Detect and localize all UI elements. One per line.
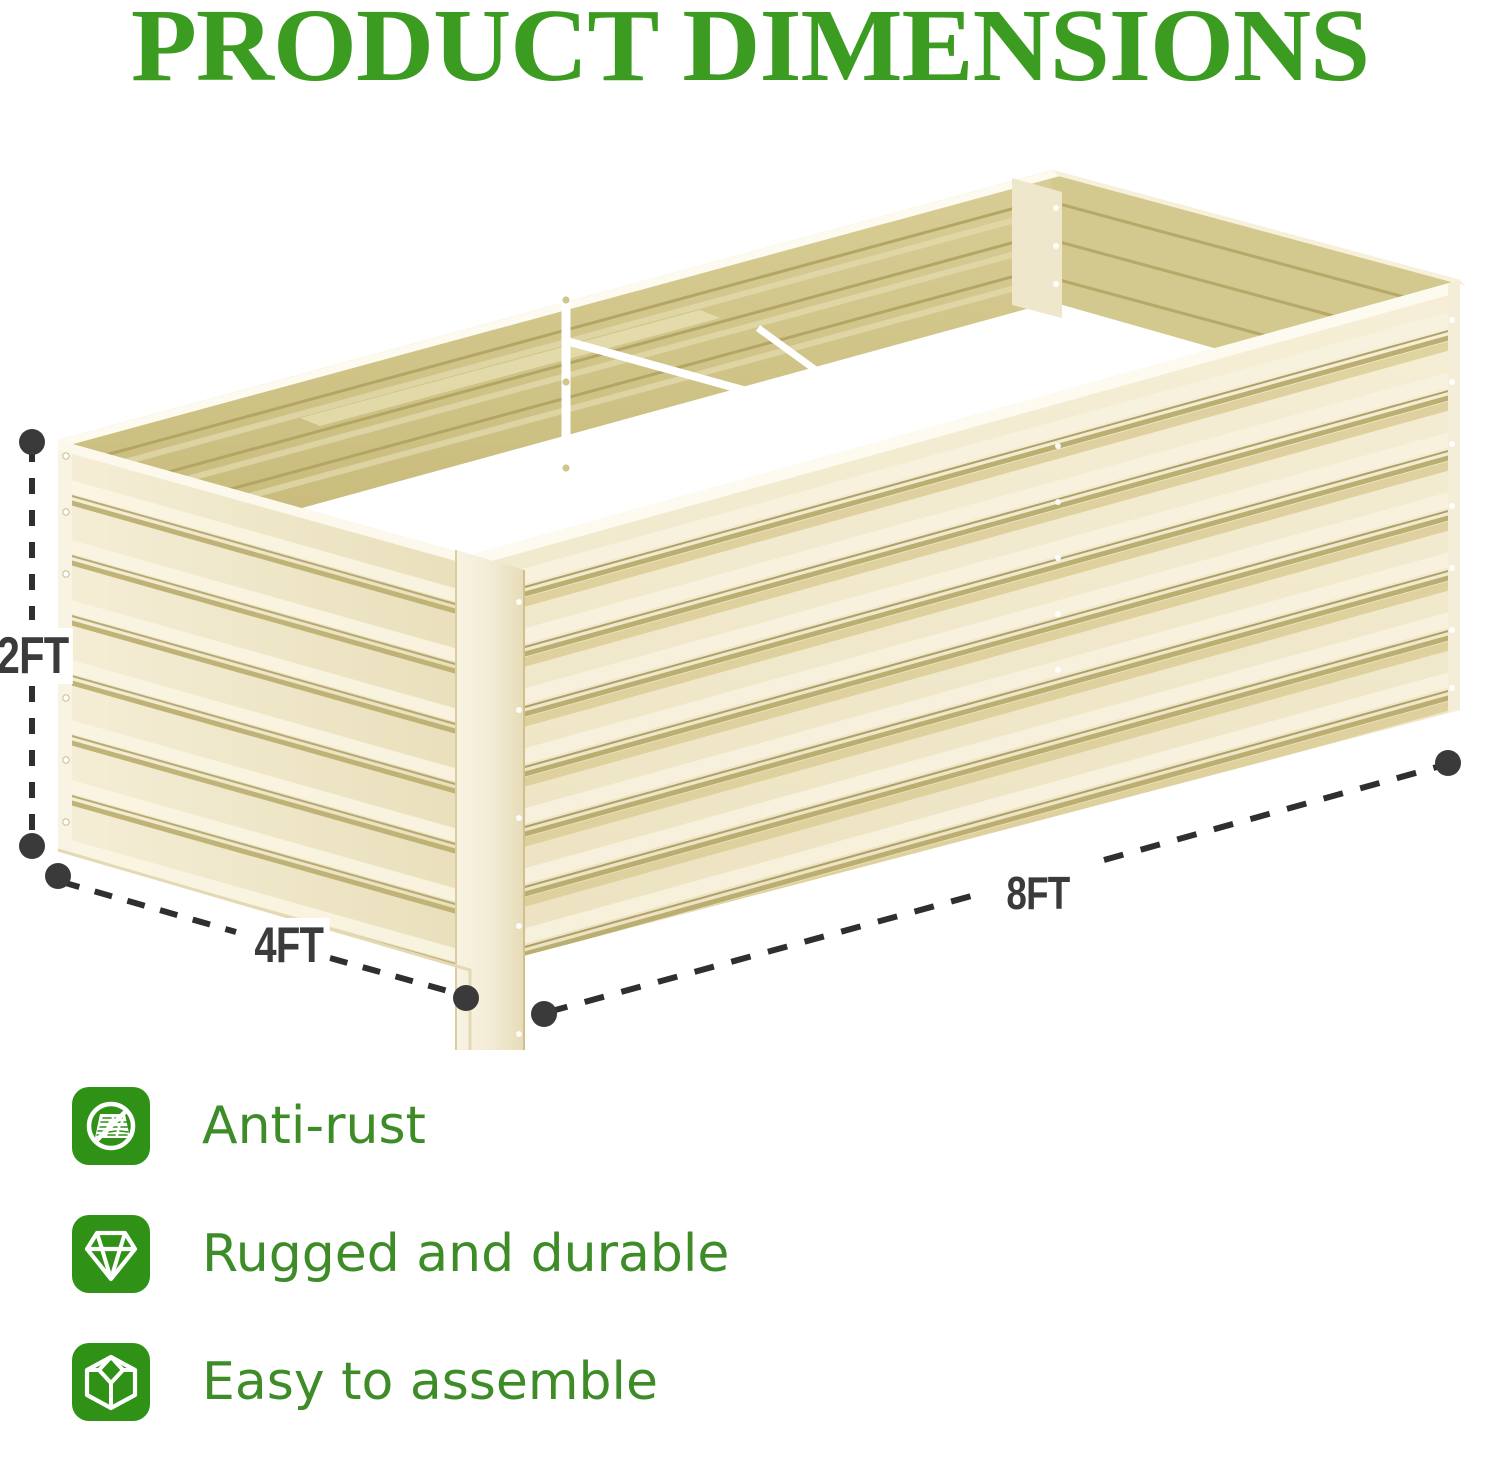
dim-dot-4ft-end — [453, 985, 479, 1011]
feature-item: Anti-rust — [72, 1082, 972, 1170]
dimension-label-height: 2FT — [0, 628, 73, 684]
corner-post-rear — [1012, 178, 1062, 318]
no-rust-icon — [72, 1087, 150, 1165]
dimension-label-length: 8FT — [1000, 868, 1076, 918]
feature-label: Easy to assemble — [202, 1353, 658, 1411]
dim-dot-4ft-start — [45, 863, 71, 889]
dim-dot-2ft-top — [19, 429, 45, 455]
feature-label: Anti-rust — [202, 1097, 426, 1155]
left-side-panel — [40, 440, 480, 971]
product-illustration — [0, 150, 1500, 1050]
corner-post-front-left — [456, 550, 524, 1050]
box-cube-icon — [72, 1343, 150, 1421]
feature-list: Anti-rust Rugged and durable — [72, 1082, 972, 1466]
dim-dot-2ft-bottom — [19, 833, 45, 859]
dim-dot-8ft-end — [1435, 750, 1461, 776]
diamond-icon — [72, 1215, 150, 1293]
dim-dot-8ft-start — [531, 1001, 557, 1027]
feature-item: Rugged and durable — [72, 1210, 972, 1298]
page-title: PRODUCT DIMENSIONS — [0, 0, 1500, 98]
feature-label: Rugged and durable — [202, 1225, 729, 1283]
dimension-label-width: 4FT — [248, 918, 330, 972]
feature-item: Easy to assemble — [72, 1338, 972, 1426]
